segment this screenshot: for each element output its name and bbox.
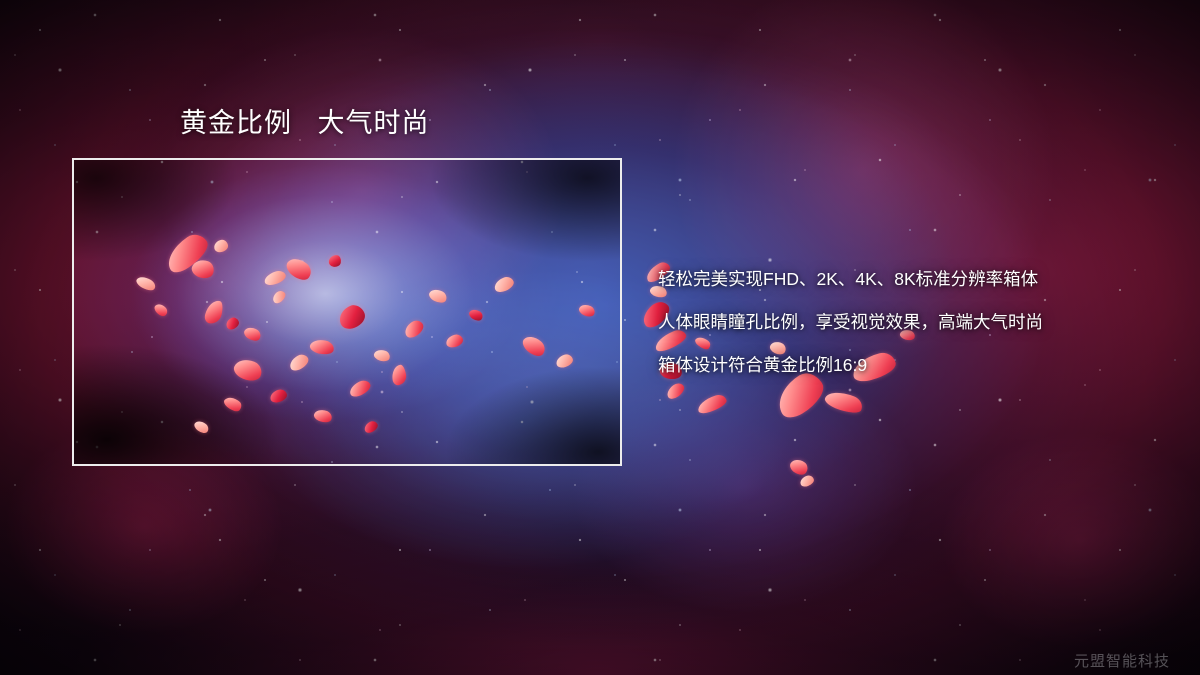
description-block: 轻松完美实现FHD、2K、4K、8K标准分辨率箱体 人体眼睛瞳孔比例，享受视觉效… [658,258,1178,387]
watermark: 元盟智能科技 [1074,650,1170,671]
description-line-1: 轻松完美实现FHD、2K、4K、8K标准分辨率箱体 [658,258,1178,301]
media-frame[interactable] [72,158,622,466]
description-line-2: 人体眼睛瞳孔比例，享受视觉效果，高端大气时尚 [658,301,1178,344]
slide-root: 黄金比例 大气时尚 轻松完美实现FHD、2K、4K、8K标准分辨率箱体 人体眼睛… [0,0,1200,675]
page-title: 黄金比例 大气时尚 [180,101,430,140]
description-line-3: 箱体设计符合黄金比例16:9 [658,344,1178,387]
media-frame-content [74,160,620,464]
